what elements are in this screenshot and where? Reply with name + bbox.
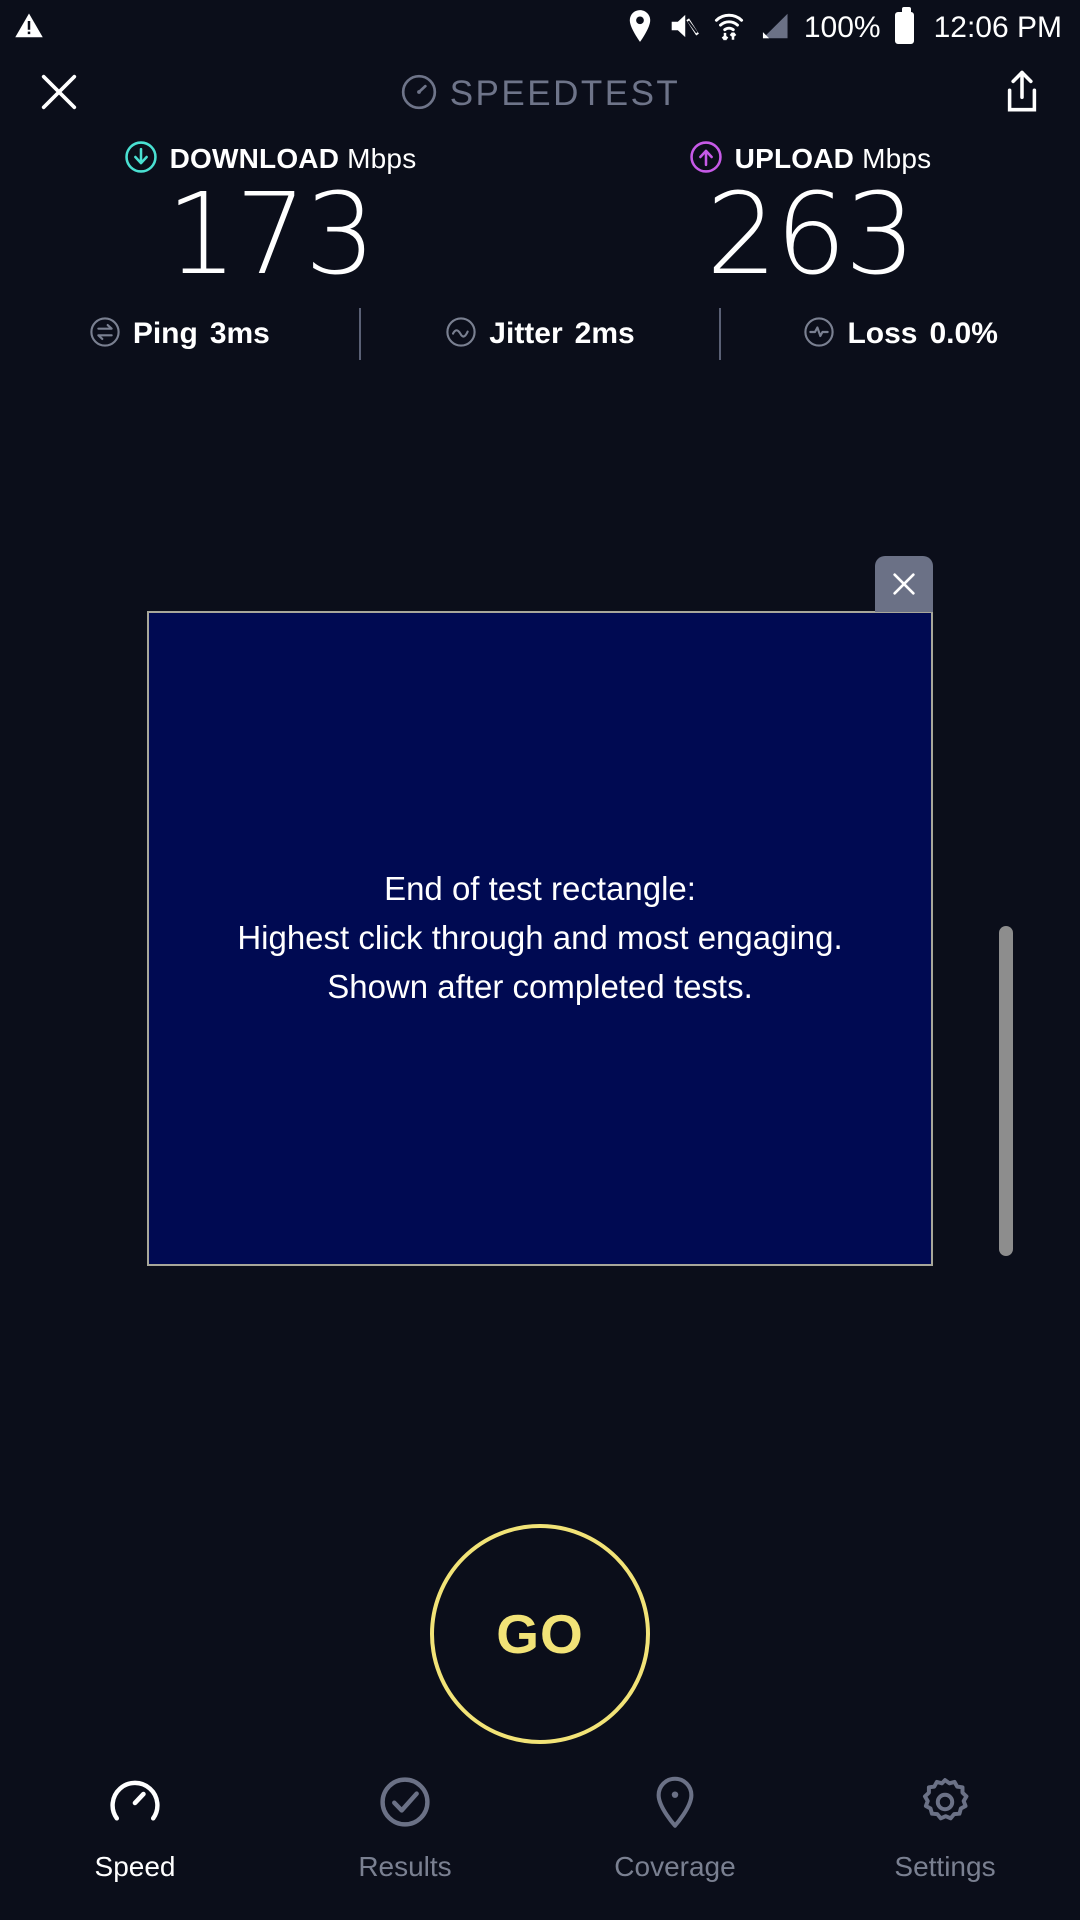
nav-label-results: Results bbox=[358, 1851, 451, 1883]
nav-item-results[interactable]: Results bbox=[270, 1774, 540, 1883]
ping-icon bbox=[89, 316, 121, 353]
battery-percent-label: 100% bbox=[804, 11, 881, 45]
metric-jitter-value: 2ms bbox=[575, 317, 635, 351]
nav-item-settings[interactable]: Settings bbox=[810, 1774, 1080, 1883]
nav-label-speed: Speed bbox=[95, 1851, 176, 1883]
ad-text: End of test rectangle: Highest click thr… bbox=[237, 865, 842, 1011]
go-button[interactable]: GO bbox=[430, 1524, 650, 1744]
ad-close-x-icon[interactable] bbox=[875, 556, 933, 612]
metric-loss-label: Loss bbox=[847, 317, 917, 351]
metric-ping-value: 3ms bbox=[210, 317, 270, 351]
advertisement: End of test rectangle: Highest click thr… bbox=[147, 611, 933, 1266]
close-x-icon[interactable] bbox=[36, 69, 82, 120]
app-bar bbox=[0, 56, 1080, 132]
metrics-row: Ping 3ms Jitter 2ms Loss 0.0% bbox=[0, 306, 1080, 362]
download-result: DOWNLOAD Mbps 173 bbox=[0, 136, 540, 292]
download-value: 173 bbox=[166, 178, 374, 292]
go-button-label: GO bbox=[496, 1602, 584, 1666]
jitter-icon bbox=[445, 316, 477, 353]
nav-item-coverage[interactable]: Coverage bbox=[540, 1774, 810, 1883]
scrollbar-thumb[interactable] bbox=[999, 926, 1013, 1256]
ad-banner[interactable]: End of test rectangle: Highest click thr… bbox=[147, 611, 933, 1266]
battery-full-icon bbox=[895, 12, 914, 44]
gear-icon bbox=[917, 1774, 973, 1835]
results-panel: DOWNLOAD Mbps 173 UPLOAD Mbps 263 bbox=[0, 136, 1080, 292]
share-upload-icon[interactable] bbox=[1000, 69, 1044, 120]
upload-result: UPLOAD Mbps 263 bbox=[540, 136, 1080, 292]
metric-loss-value: 0.0% bbox=[930, 317, 998, 351]
metric-loss: Loss 0.0% bbox=[721, 316, 1080, 353]
bottom-nav: Speed Results Coverage Settings bbox=[0, 1760, 1080, 1920]
location-pin-icon bbox=[647, 1774, 703, 1835]
metric-jitter: Jitter 2ms bbox=[361, 316, 720, 353]
metric-ping: Ping 3ms bbox=[0, 316, 359, 353]
app-screen: 100% 12:06 PM SPEEDTEST DOWNLOAD Mb bbox=[0, 0, 1080, 1920]
nav-item-speed[interactable]: Speed bbox=[0, 1774, 270, 1883]
location-pin-icon bbox=[626, 9, 654, 48]
loss-icon bbox=[803, 316, 835, 353]
nav-label-settings: Settings bbox=[894, 1851, 995, 1883]
cellular-signal-icon bbox=[758, 11, 790, 46]
upload-value: 263 bbox=[706, 178, 914, 292]
metric-jitter-label: Jitter bbox=[489, 317, 562, 351]
arrow-down-circle-icon bbox=[124, 140, 158, 179]
volume-mute-icon bbox=[668, 10, 700, 47]
nav-label-coverage: Coverage bbox=[614, 1851, 735, 1883]
metric-ping-label: Ping bbox=[133, 317, 198, 351]
warning-triangle-icon bbox=[14, 11, 44, 46]
speedometer-icon bbox=[107, 1774, 163, 1835]
wifi-icon bbox=[714, 10, 744, 47]
check-circle-icon bbox=[377, 1774, 433, 1835]
status-bar-clock: 12:06 PM bbox=[934, 11, 1062, 45]
status-bar: 100% 12:06 PM bbox=[0, 0, 1080, 56]
